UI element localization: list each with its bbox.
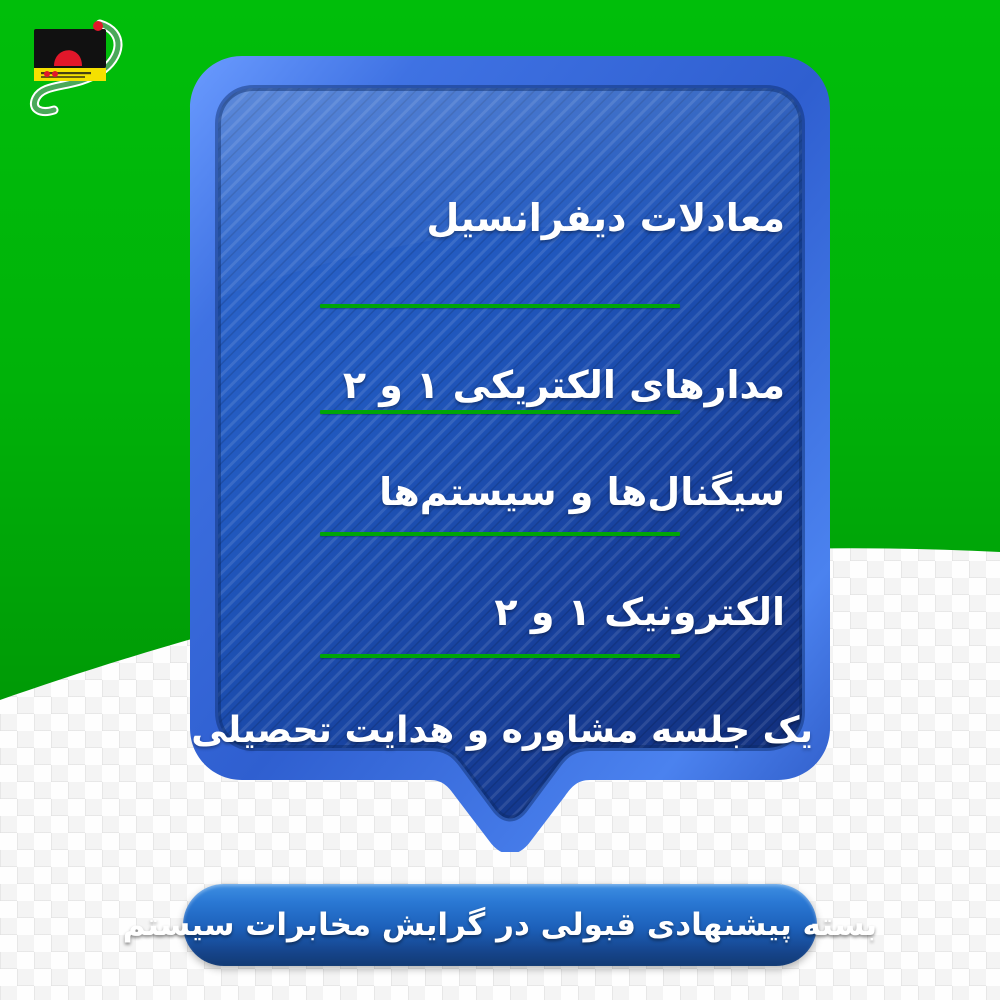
bottom-banner-label: بسته پیشنهادی قبولی در گرایش مخابرات سیس… [123,907,877,943]
course-item-3-label: سیگنال‌ها و سیستم‌ها [379,470,785,514]
nasr-logo[interactable] [14,10,132,118]
course-list: معادلات دیفرانسیل مدارهای الکتریکی ۱ و ۲… [235,100,785,770]
course-item-1-label: معادلات دیفرانسیل [426,196,785,240]
course-item-1: معادلات دیفرانسیل [235,196,785,240]
course-item-4-label: الکترونیک ۱ و ۲ [494,590,785,634]
separator-3 [320,532,680,536]
course-item-5-label: یک جلسه مشاوره و هدایت تحصیلی [191,710,813,751]
course-item-2: مدارهای الکتریکی ۱ و ۲ [235,363,785,407]
course-item-3: سیگنال‌ها و سیستم‌ها [235,470,785,514]
course-item-4: الکترونیک ۱ و ۲ [235,590,785,634]
bottom-banner[interactable]: بسته پیشنهادی قبولی در گرایش مخابرات سیس… [183,884,817,966]
course-item-5: یک جلسه مشاوره و هدایت تحصیلی [205,710,813,751]
separator-4 [320,654,680,658]
separator-1 [320,304,680,308]
poster-canvas: معادلات دیفرانسیل مدارهای الکتریکی ۱ و ۲… [0,0,1000,1000]
separator-2 [320,410,680,414]
course-item-2-label: مدارهای الکتریکی ۱ و ۲ [343,363,785,407]
speech-bubble: معادلات دیفرانسیل مدارهای الکتریکی ۱ و ۲… [186,52,834,852]
logo-wordmark [34,21,106,81]
